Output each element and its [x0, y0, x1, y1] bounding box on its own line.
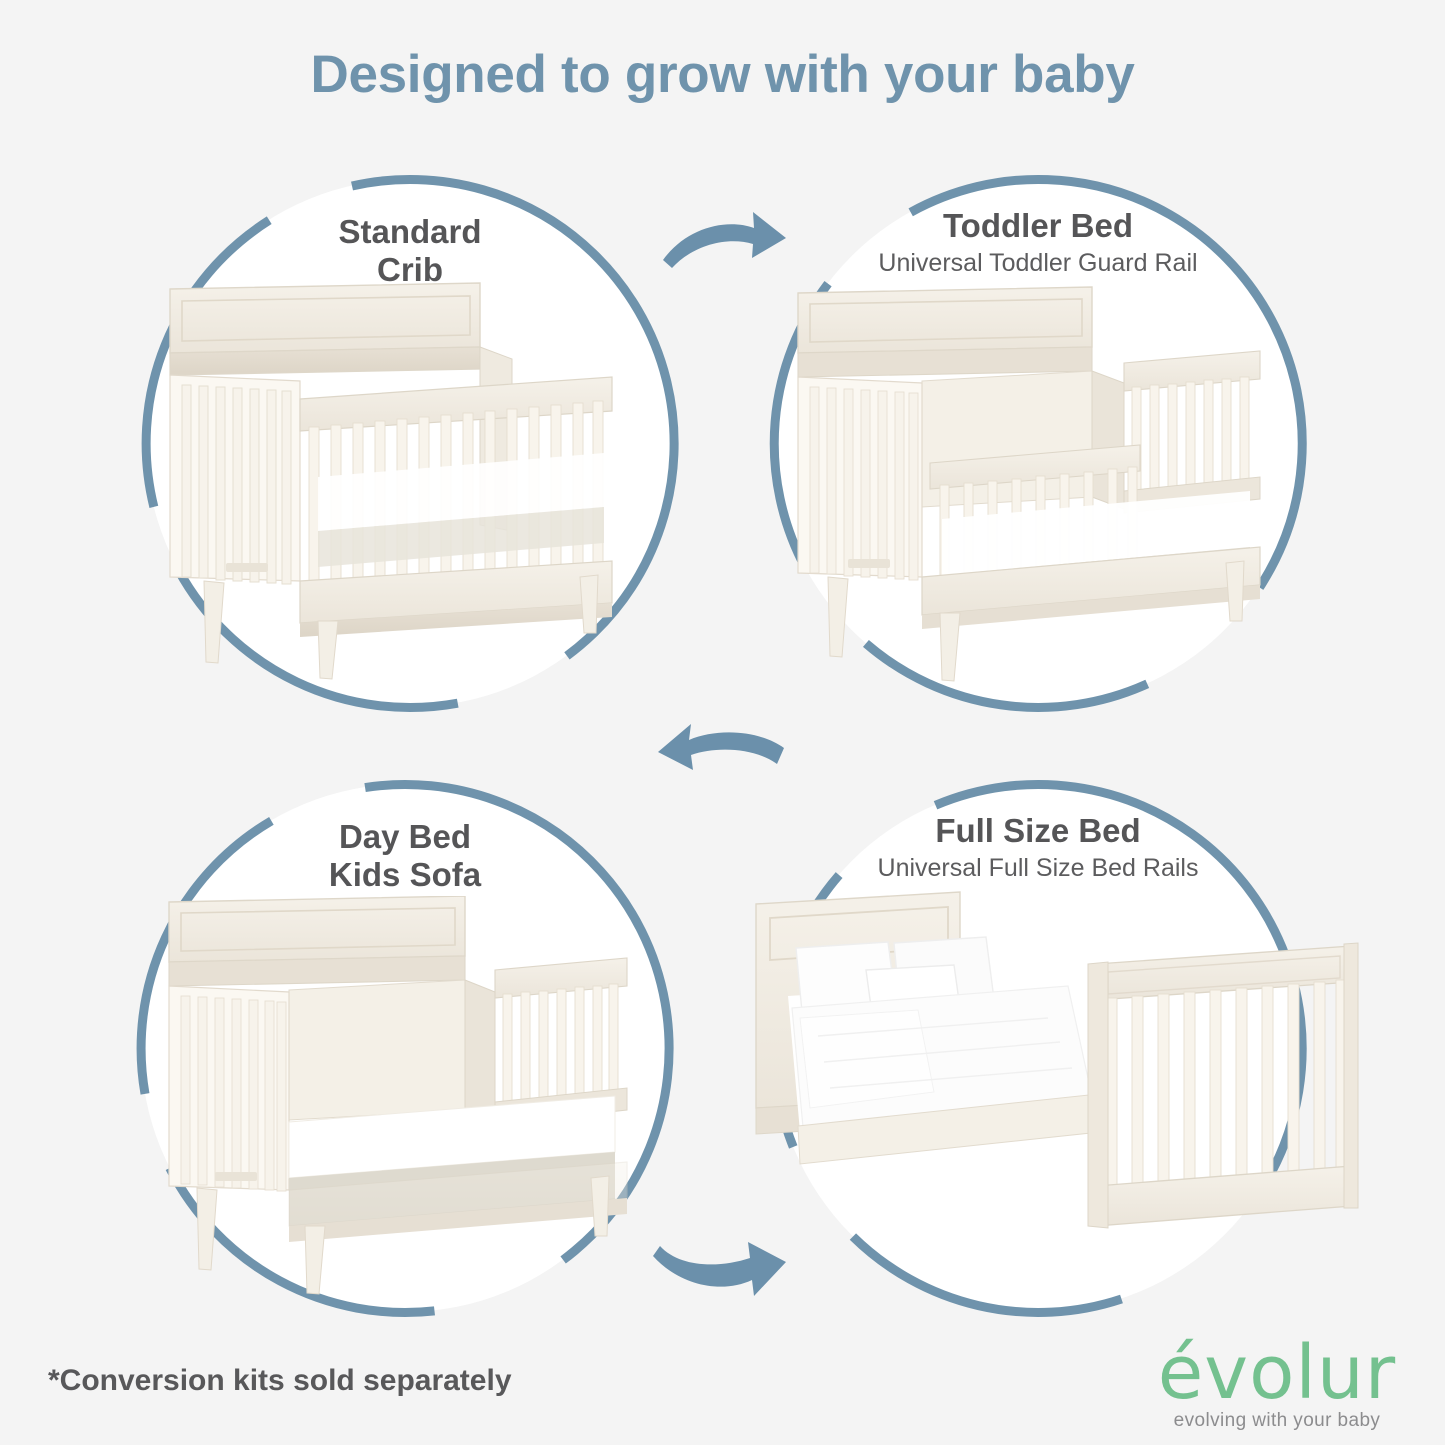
footnote-conversion-kits: *Conversion kits sold separately — [48, 1364, 512, 1398]
stage-card-day-bed: Day Bed Kids Sofa — [135, 778, 675, 1318]
stage-card-toddler-bed: Toddler Bed Universal Toddler Guard Rail — [768, 173, 1308, 713]
stage-subtitle: Universal Toddler Guard Rail — [768, 248, 1308, 278]
stage-label-day-bed: Day Bed Kids Sofa — [135, 818, 675, 895]
stage-title-line2: Crib — [140, 251, 680, 289]
arrow-crib-to-toddler-icon — [660, 208, 790, 288]
stage-title-line1: Toddler Bed — [768, 207, 1308, 245]
stage-label-full-size-bed: Full Size Bed Universal Full Size Bed Ra… — [768, 812, 1308, 883]
stage-title-line1: Day Bed — [135, 818, 675, 856]
page-title: Designed to grow with your baby — [0, 44, 1445, 105]
arrow-daybed-to-fullsize-icon — [650, 1228, 790, 1310]
stage-label-standard-crib: Standard Crib — [140, 213, 680, 290]
stage-card-full-size-bed: Full Size Bed Universal Full Size Bed Ra… — [768, 778, 1308, 1318]
brand-name: évolur — [1147, 1338, 1407, 1408]
stage-title-line2: Kids Sofa — [135, 856, 675, 894]
stage-subtitle: Universal Full Size Bed Rails — [768, 853, 1308, 883]
product-image-standard-crib — [168, 281, 652, 681]
brand-tagline: evolving with your baby — [1147, 1410, 1407, 1432]
arrow-toddler-to-daybed-icon — [655, 722, 787, 804]
product-image-toddler-bed — [792, 285, 1284, 685]
stage-title-line1: Full Size Bed — [768, 812, 1308, 850]
product-image-day-bed — [163, 896, 647, 1296]
stage-label-toddler-bed: Toddler Bed Universal Toddler Guard Rail — [768, 207, 1308, 278]
brand-logo: évolur evolving with your baby — [1147, 1338, 1407, 1432]
product-image-full-size-bed — [748, 886, 1368, 1306]
stage-card-standard-crib: Standard Crib — [140, 173, 680, 713]
stage-title-line1: Standard — [140, 213, 680, 251]
